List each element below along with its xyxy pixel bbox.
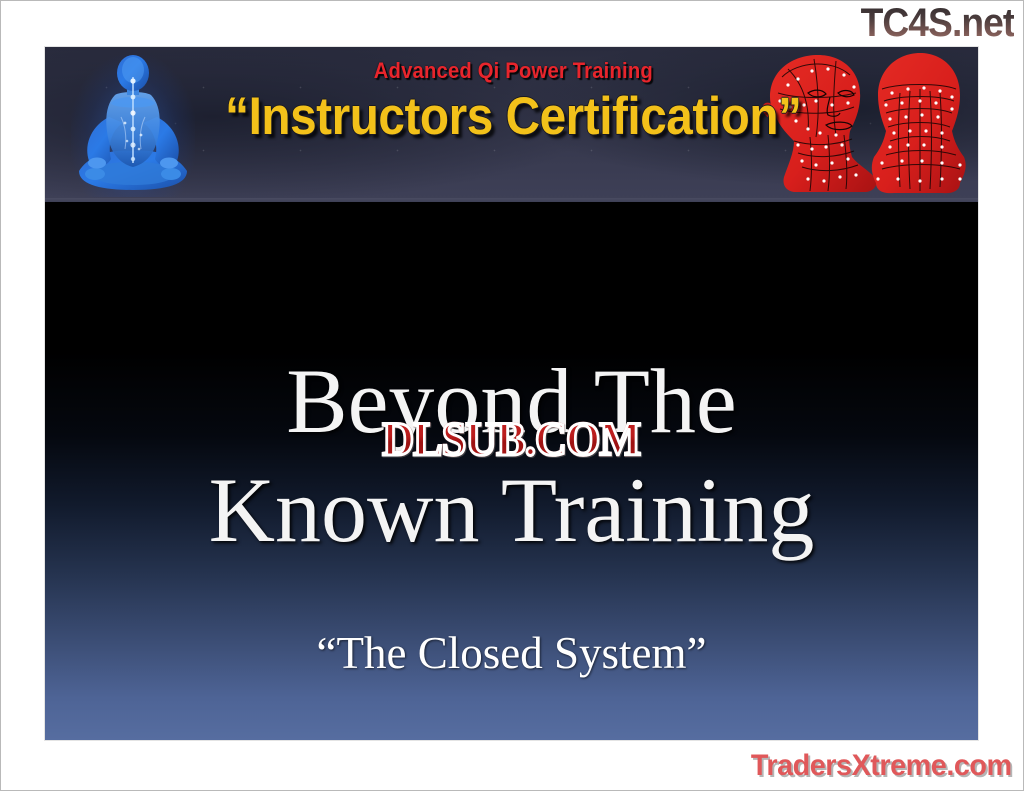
slide-banner: Advanced Qi Power Training “Instructors …: [45, 47, 978, 202]
banner-bottom-edge: [45, 198, 978, 202]
banner-title: “Instructors Certification”: [92, 89, 932, 145]
page-title: Beyond The Known Training: [45, 347, 978, 564]
tc4s-watermark: TC4S.net: [860, 1, 1014, 46]
banner-supertitle: Advanced Qi Power Training: [82, 58, 940, 84]
page-subtitle: “The Closed System”: [45, 627, 978, 679]
presentation-slide: Advanced Qi Power Training “Instructors …: [45, 47, 978, 740]
tradersxtreme-watermark: TradersXtreme.com: [751, 749, 1012, 783]
title-block: Beyond The Known Training: [45, 347, 978, 564]
